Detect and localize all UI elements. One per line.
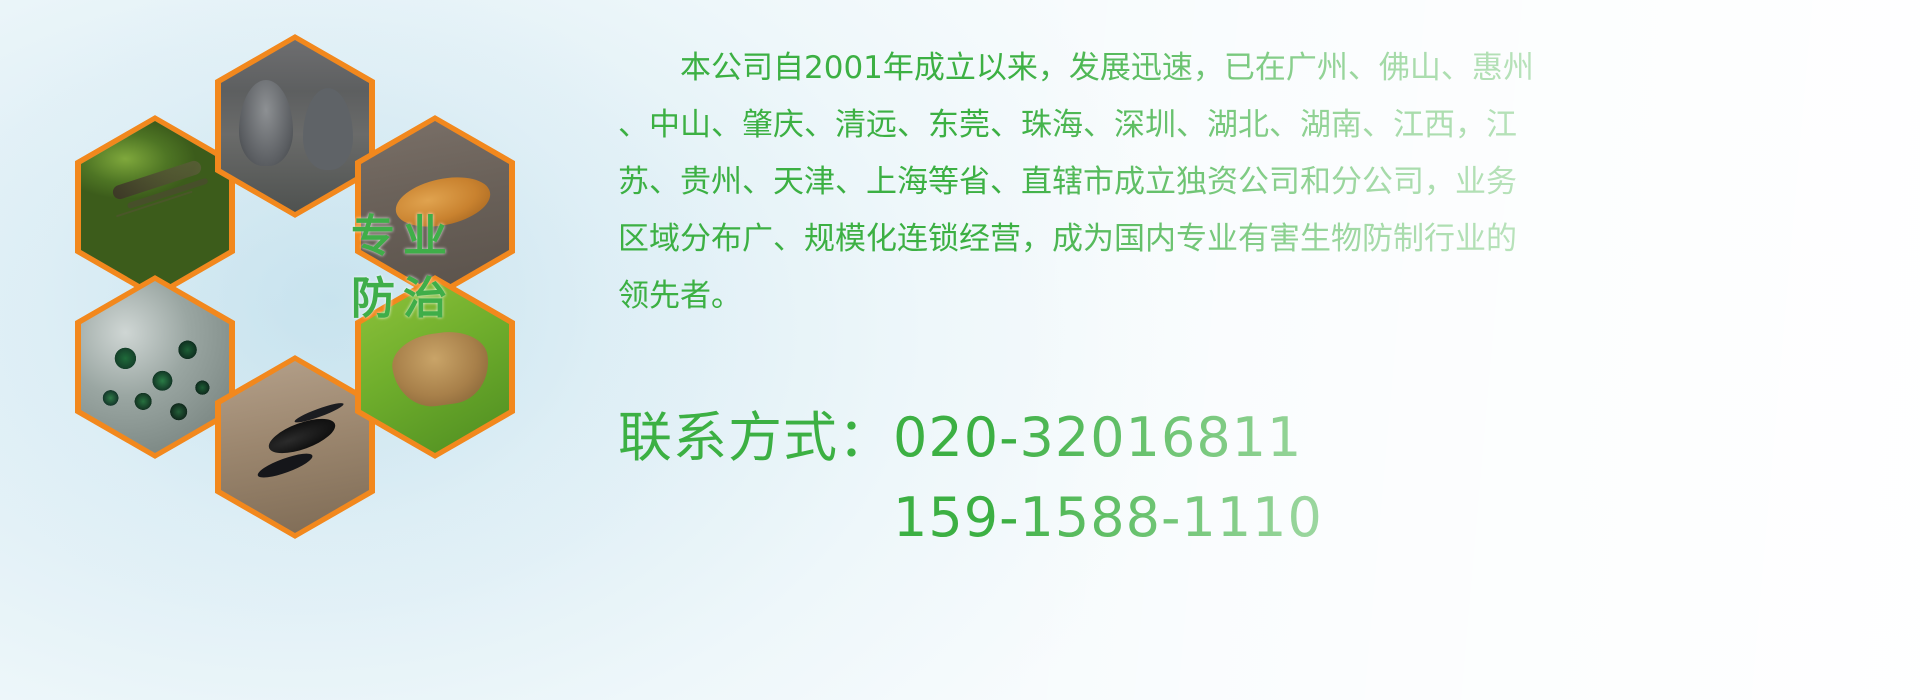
intro-line: 区域分布广、规模化连锁经营，成为国内专业有害生物防制行业的 xyxy=(618,211,1868,268)
intro-line: 苏、贵州、天津、上海等省、直辖市成立独资公司和分公司，业务 xyxy=(618,154,1868,211)
hex-cell-rats xyxy=(215,34,375,218)
label-line-2: 防治 xyxy=(333,268,473,330)
phone-primary[interactable]: 020-32016811 xyxy=(893,406,1302,469)
company-intro-paragraph: 本公司自2001年成立以来，发展迅速，已在广州、佛山、惠州 、中山、肇庆、清远、… xyxy=(618,40,1868,325)
honeycomb-collage: 专业 防治 xyxy=(75,10,595,580)
label-line-1: 专业 xyxy=(333,206,473,268)
contact-primary-row: 联系方式：020-32016811 xyxy=(618,398,1868,478)
contact-block: 联系方式：020-32016811 159-1588-1110 xyxy=(618,398,1868,558)
promo-banner: 专业 防治 本公司自2001年成立以来，发展迅速，已在广州、佛山、惠州 、中山、… xyxy=(0,0,1920,700)
hex-cell-ants xyxy=(215,355,375,539)
intro-line: 领先者。 xyxy=(618,268,1868,325)
hex-cell-mosquito xyxy=(75,115,235,299)
intro-line: 本公司自2001年成立以来，发展迅速，已在广州、佛山、惠州 xyxy=(618,40,1868,97)
phone-secondary[interactable]: 159-1588-1110 xyxy=(893,486,1323,549)
contact-secondary-row: 159-1588-1110 xyxy=(618,478,1868,558)
intro-line: 、中山、肇庆、清远、东莞、珠海、深圳、湖北、湖南、江西，江 xyxy=(618,97,1868,154)
honeycomb-center-label: 专业 防治 xyxy=(333,206,473,330)
contact-label: 联系方式： xyxy=(618,406,893,469)
hex-cell-flies xyxy=(75,275,235,459)
